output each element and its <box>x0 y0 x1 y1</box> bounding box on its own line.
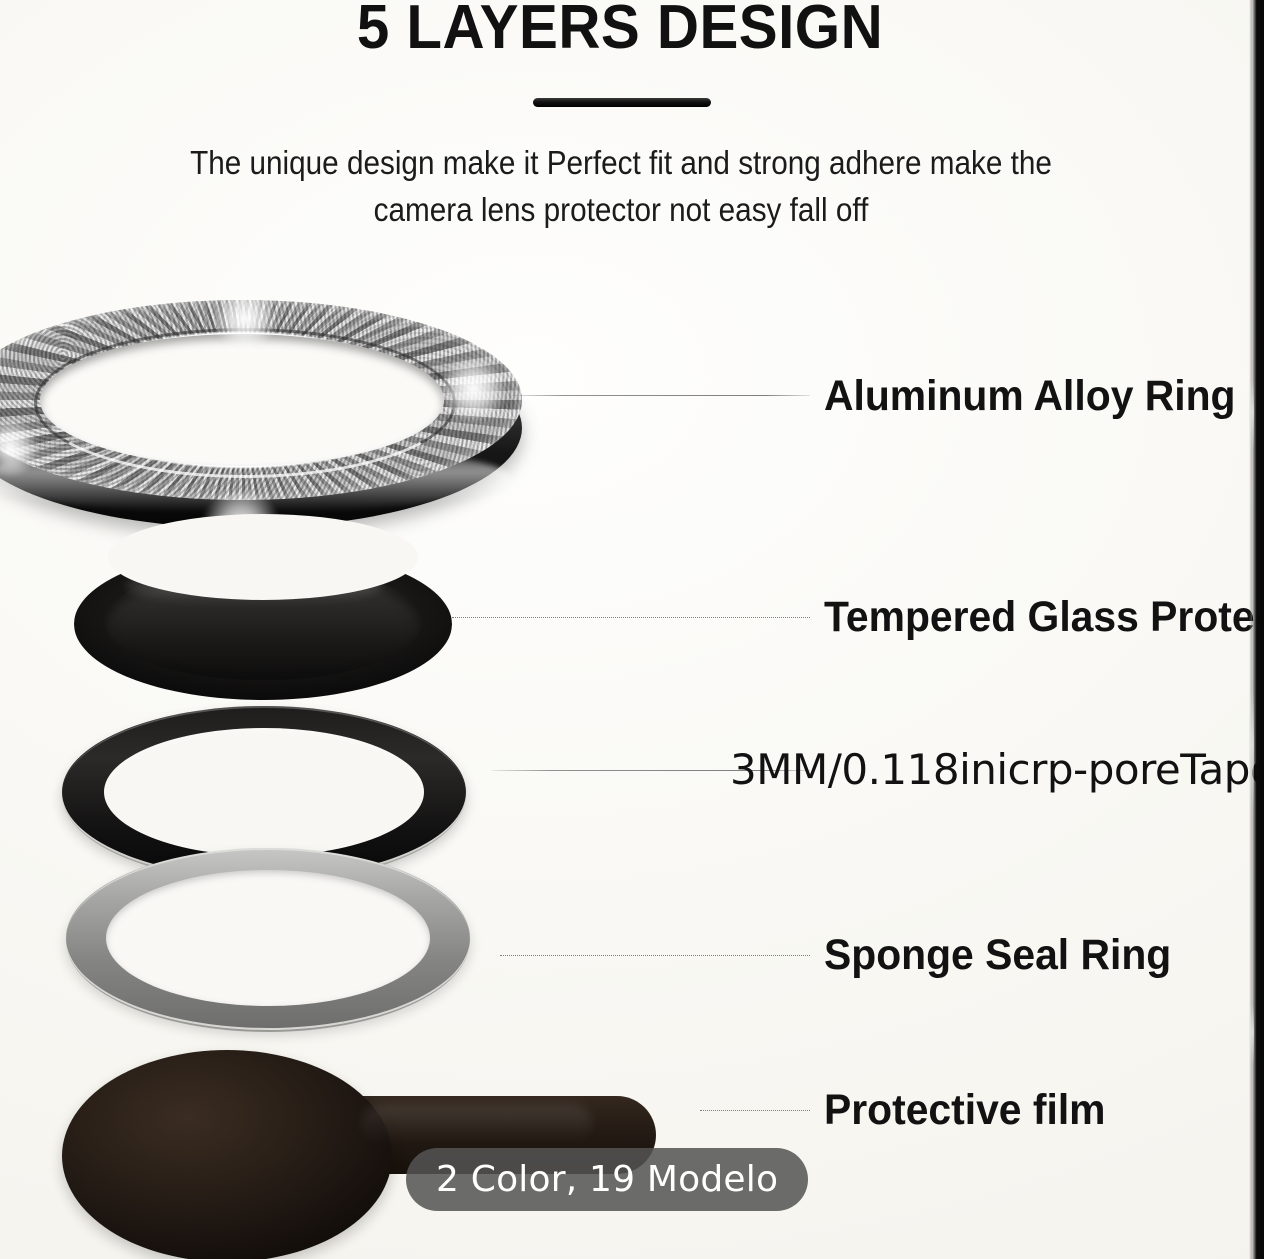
infographic-canvas: 5 LAYERS DESIGN The unique design make i… <box>0 0 1264 1259</box>
tempered-glass-protector-graphic <box>74 548 452 700</box>
layer-label-protective-film: Protective film <box>824 1086 1106 1135</box>
protective-film-graphic <box>62 1008 662 1259</box>
layer-label-micro-pore-tape: 3MM/0.118inicrp-poreTape <box>730 745 1264 794</box>
right-edge-glint-lower <box>1249 1005 1254 1065</box>
right-edge-glint-upper <box>1249 380 1254 450</box>
variant-count-badge: 2 Color, 19 Modelo <box>406 1148 808 1211</box>
ring-specular-right <box>436 358 510 420</box>
subtitle-text: The unique design make it Perfect fit an… <box>149 140 1094 234</box>
protective-film-sheen <box>362 1104 592 1144</box>
right-edge-glint-middle <box>1249 690 1254 810</box>
title-divider <box>533 98 711 107</box>
ring-aperture <box>40 334 444 466</box>
sponge-ring-aperture <box>106 870 430 1006</box>
ring-specular-top <box>210 290 280 348</box>
leader-line-aluminum-alloy-ring <box>510 395 810 396</box>
tape-ring-aperture <box>104 728 424 856</box>
leader-line-sponge-seal-ring <box>500 955 810 956</box>
layer-label-aluminum-alloy-ring: Aluminum Alloy Ring <box>824 372 1236 421</box>
aluminum-alloy-ring-graphic <box>0 300 522 540</box>
glass-curve-cutout <box>108 514 418 600</box>
protective-film-disc <box>62 1050 392 1259</box>
layer-label-tempered-glass-protector: Tempered Glass Protector <box>824 593 1264 642</box>
leader-line-tempered-glass-protector <box>452 617 810 618</box>
variant-count-badge-label: 2 Color, 19 Modelo <box>436 1159 778 1200</box>
page-title: 5 LAYERS DESIGN <box>37 0 1203 63</box>
sponge-seal-ring-graphic <box>66 848 470 1028</box>
right-edge-dark-band <box>1252 0 1264 1259</box>
leader-line-protective-film <box>700 1110 810 1111</box>
layer-label-sponge-seal-ring: Sponge Seal Ring <box>824 931 1171 980</box>
